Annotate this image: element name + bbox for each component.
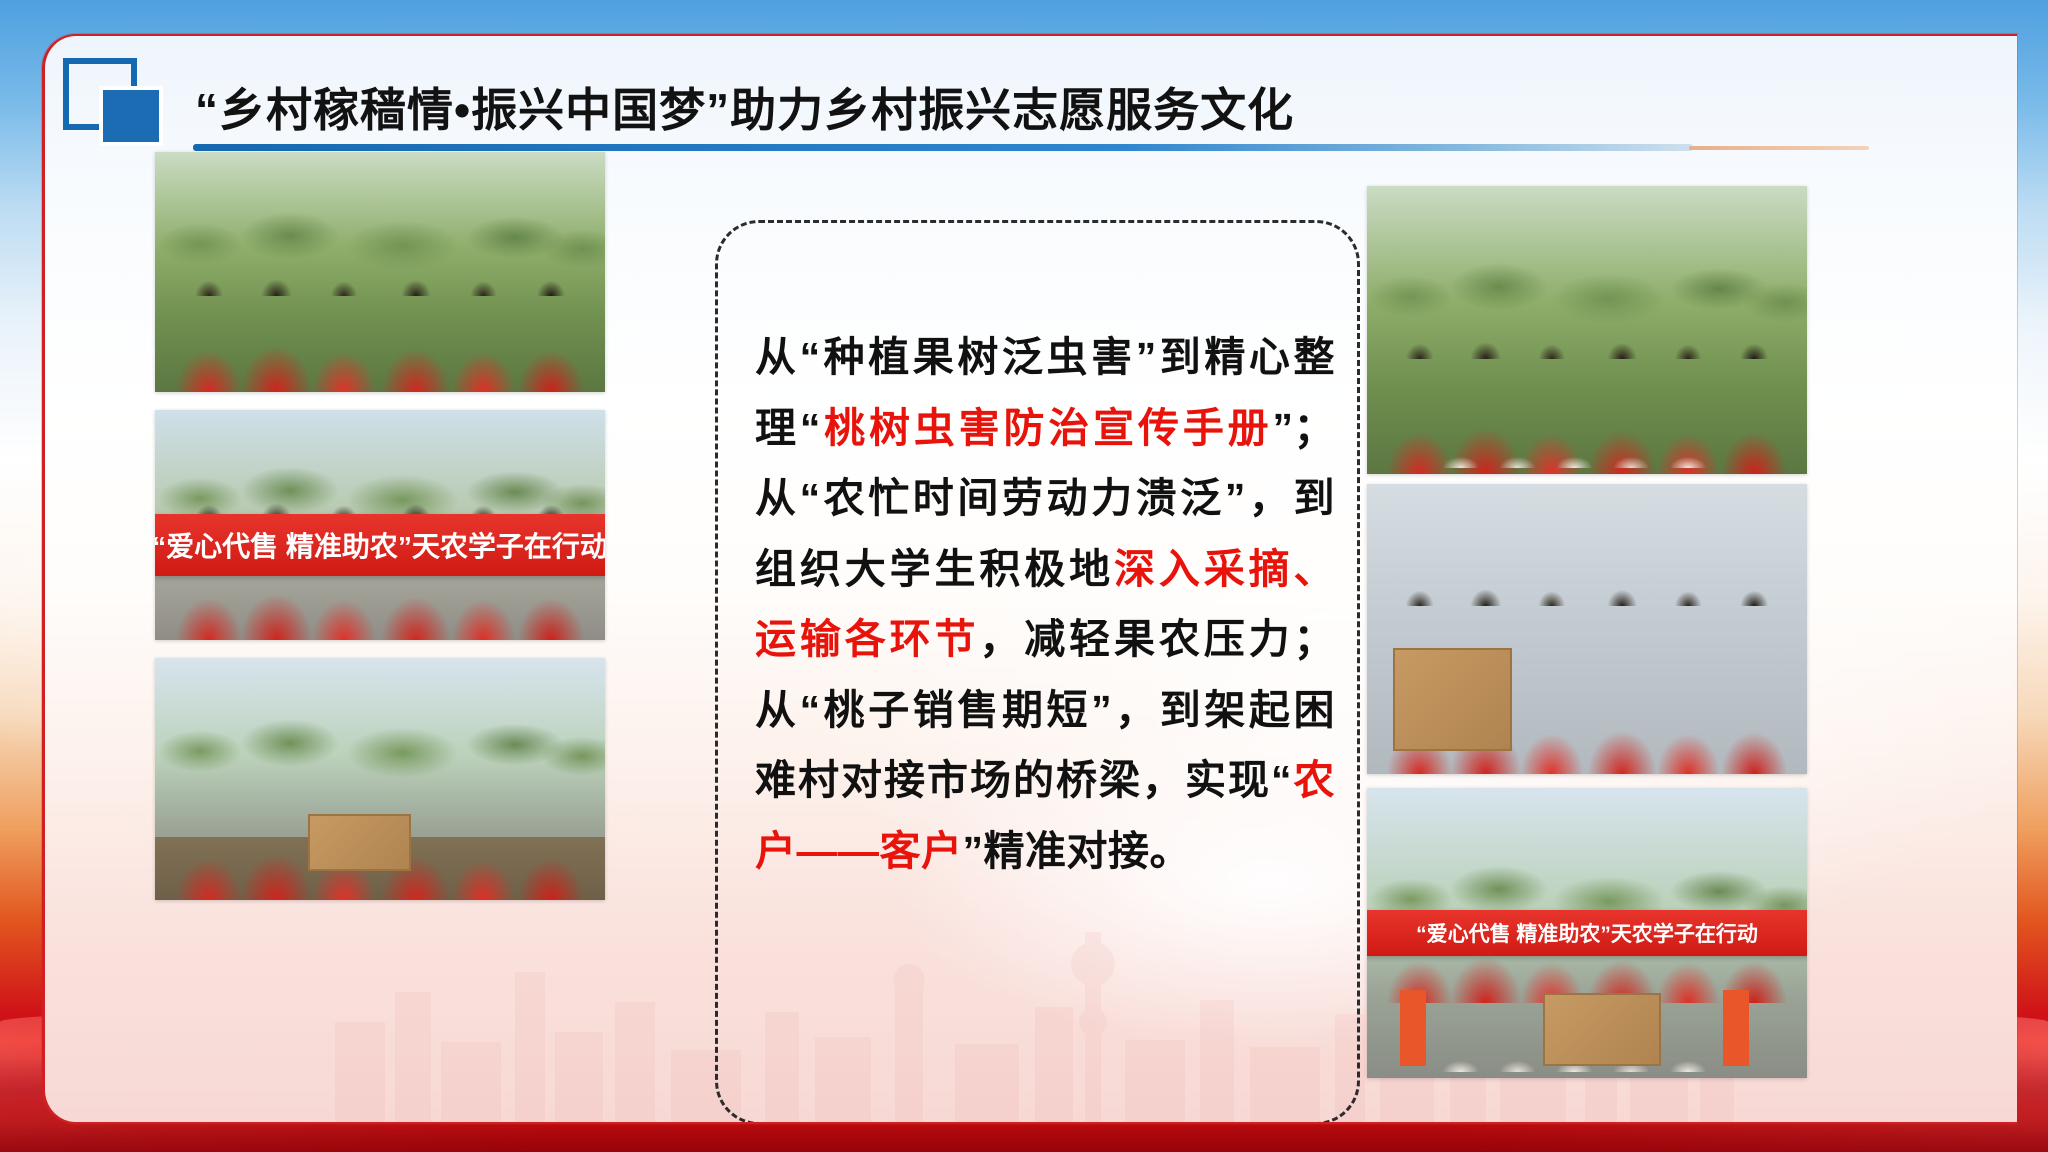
photo-heads-layer — [1367, 542, 1807, 606]
photo-warehouse-packing — [1367, 484, 1807, 774]
photo-trees-layer — [155, 702, 605, 784]
photo-carton-box — [1393, 648, 1511, 751]
logo-squares-icon — [63, 58, 155, 136]
photo-loading-site: “爱心代售 精准助农”天农学子在行动 — [1367, 788, 1807, 1078]
photo-heads-layer — [155, 470, 605, 521]
photo-corn-harvest — [1367, 186, 1807, 474]
photo-carton-box — [1543, 993, 1661, 1067]
photo-banner-group: “爱心代售 精准助农”天农学子在行动 — [155, 410, 605, 640]
body-segment-1: 桃树虫害防治宣传手册 — [821, 405, 1273, 451]
title-underline — [193, 144, 1693, 151]
photo-produce-sacks — [1429, 388, 1746, 469]
title-underline-tail — [1689, 146, 1869, 150]
photo-crowd-layer — [155, 282, 605, 392]
photo-picking-peaches — [155, 658, 605, 900]
page-title: “乡村稼穑情•振兴中国梦”助力乡村振兴志愿服务文化 — [195, 74, 1294, 140]
body-paragraph: 从“种植果树泛虫害”到精心整理“桃树虫害防治宣传手册”；从“农忙时间劳动力溃泛”… — [755, 322, 1335, 886]
body-segment-6: ”精准对接。 — [963, 828, 1192, 874]
content-card: “乡村稼穑情•振兴中国梦”助力乡村振兴志愿服务文化 “爱心代售 精准助农”天农学… — [42, 34, 2017, 1124]
slide-header: “乡村稼穑情•振兴中国梦”助力乡村振兴志愿服务文化 — [45, 36, 2017, 156]
photo-carton-box — [308, 814, 411, 871]
photo-banner-text: “爱心代售 精准助农”天农学子在行动 — [1367, 910, 1807, 956]
slide-root: “乡村稼穑情•振兴中国梦”助力乡村振兴志愿服务文化 “爱心代售 精准助农”天农学… — [0, 0, 2048, 1152]
photo-banner-text: “爱心代售 精准助农”天农学子在行动 — [155, 514, 605, 576]
photo-students-in-orchard — [155, 152, 605, 392]
logo-filled-square-icon — [99, 86, 163, 146]
